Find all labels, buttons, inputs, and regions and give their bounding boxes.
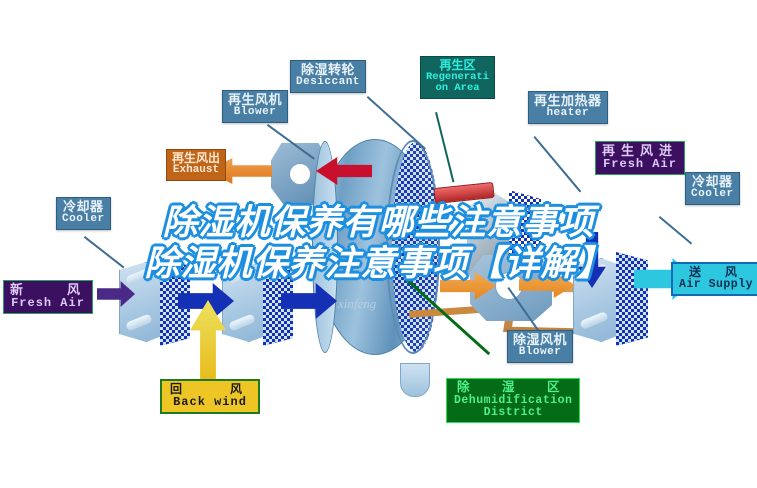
headline-line-1: 除湿机保养有哪些注意事项 — [8, 203, 749, 244]
label-dehum-district-en-2: District — [454, 407, 572, 419]
label-regen-blower-en: Blower — [228, 107, 282, 119]
label-regen-blower[interactable]: 再生风机 Blower — [222, 90, 288, 123]
label-regen-fresh-air-cn: 再生风进 — [602, 144, 678, 158]
leader-heater — [533, 136, 581, 192]
headline-line-2: 除湿机保养注意事项【详解】 — [99, 244, 659, 285]
headline-overlay: 除湿机保养有哪些注意事项 除湿机保养注意事项【详解】 — [0, 203, 757, 285]
label-cooler-right-en: Cooler — [691, 189, 734, 201]
label-desiccant-wheel[interactable]: 除湿转轮 Desiccant — [290, 60, 366, 93]
label-regen-fresh-air[interactable]: 再生风进 Fresh Air — [595, 141, 685, 175]
label-cooler-right[interactable]: 冷却器 Cooler — [685, 172, 740, 205]
label-regen-area-cn: 再生区 — [426, 59, 489, 72]
label-exhaust-en: Exhaust — [172, 165, 220, 177]
dehumidifier-diagram-image: xinfeng 除湿转轮 Desiccant — [0, 0, 757, 488]
wheel-watermark: xinfeng — [338, 296, 376, 312]
label-dehum-district[interactable]: 除 湿 区 Dehumidification District — [446, 378, 580, 423]
label-dehum-blower-cn: 除湿风机 — [513, 333, 567, 347]
label-back-wind-cn: 回 风 — [170, 383, 250, 396]
label-exhaust-cn: 再生风出 — [172, 152, 220, 165]
label-desiccant-wheel-en: Desiccant — [296, 77, 360, 89]
label-regen-blower-cn: 再生风机 — [228, 93, 282, 107]
label-regen-heater-cn: 再生加热器 — [534, 94, 602, 108]
label-regen-area-en-2: on Area — [426, 83, 489, 94]
label-dehum-blower[interactable]: 除湿风机 Blower — [507, 330, 573, 363]
label-fresh-air-en: Fresh Air — [10, 297, 86, 310]
wheel-drain-elbow — [400, 363, 430, 397]
label-fresh-air-cn: 新 风 — [10, 283, 86, 297]
label-back-wind[interactable]: 回 风 Back wind — [160, 379, 260, 414]
label-desiccant-wheel-cn: 除湿转轮 — [296, 63, 360, 77]
label-regen-heater-en: heater — [534, 108, 602, 120]
regen-blower-hub — [289, 163, 311, 185]
label-dehum-blower-en: Blower — [513, 347, 567, 359]
label-cooler-right-cn: 冷却器 — [691, 175, 734, 189]
label-exhaust[interactable]: 再生风出 Exhaust — [166, 149, 226, 181]
leader-regen-area — [435, 112, 454, 182]
label-dehum-district-cn: 除 湿 区 — [454, 381, 572, 395]
label-regen-area[interactable]: 再生区 Regenerati on Area — [420, 56, 495, 99]
label-back-wind-en: Back wind — [170, 396, 250, 409]
label-regen-fresh-air-en: Fresh Air — [602, 158, 678, 171]
label-regen-heater[interactable]: 再生加热器 heater — [528, 91, 608, 124]
label-fresh-air[interactable]: 新 风 Fresh Air — [3, 280, 93, 314]
